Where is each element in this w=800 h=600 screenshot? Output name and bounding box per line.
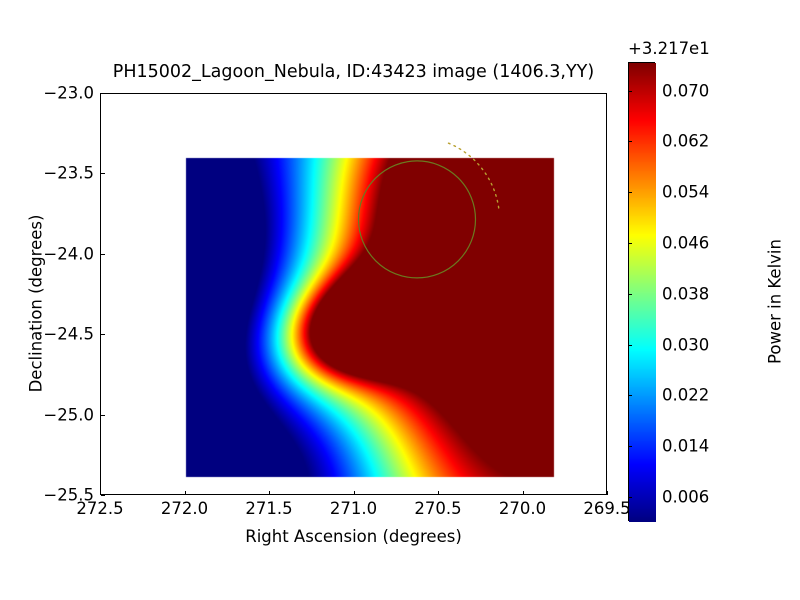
x-tick-label: 272.0 bbox=[161, 499, 208, 518]
heatmap-image bbox=[101, 94, 608, 496]
y-tick-label: −25.5 bbox=[43, 486, 94, 505]
colorbar-tick-mark bbox=[628, 446, 632, 447]
page-title: PH15002_Lagoon_Nebula, ID:43423 image (1… bbox=[100, 62, 607, 82]
colorbar-tick-label: 0.014 bbox=[662, 437, 709, 456]
colorbar-label: Power in Kelvin bbox=[766, 182, 785, 422]
x-tick-mark bbox=[523, 491, 524, 495]
colorbar-tick-mark bbox=[628, 497, 632, 498]
y-tick-label: −25.0 bbox=[43, 405, 94, 424]
colorbar-tick-label: 0.054 bbox=[662, 183, 709, 202]
y-tick-mark bbox=[101, 334, 105, 335]
colorbar-tick-label: 0.038 bbox=[662, 284, 709, 303]
x-tick-mark bbox=[185, 491, 186, 495]
colorbar-tick-label: 0.062 bbox=[662, 132, 709, 151]
y-tick-label: −24.0 bbox=[43, 244, 94, 263]
x-tick-label: 271.5 bbox=[245, 499, 292, 518]
sky-map-axes[interactable] bbox=[100, 93, 607, 495]
figure-canvas: PH15002_Lagoon_Nebula, ID:43423 image (1… bbox=[0, 0, 800, 600]
x-axis-label: Right Ascension (degrees) bbox=[100, 527, 607, 546]
y-tick-mark bbox=[101, 173, 105, 174]
colorbar-tick-mark bbox=[628, 294, 632, 295]
colorbar-tick-mark bbox=[628, 395, 632, 396]
x-tick-mark bbox=[607, 491, 608, 495]
colorbar-tick-label: 0.022 bbox=[662, 386, 709, 405]
x-tick-label: 269.5 bbox=[583, 499, 630, 518]
colorbar-tick-label: 0.046 bbox=[662, 233, 709, 252]
x-tick-label: 271.0 bbox=[330, 499, 377, 518]
y-axis-label: Declination (degrees) bbox=[27, 194, 46, 414]
x-tick-mark bbox=[438, 491, 439, 495]
y-tick-mark bbox=[101, 415, 105, 416]
colorbar-tick-label: 0.006 bbox=[662, 487, 709, 506]
colorbar-tick-mark bbox=[628, 141, 632, 142]
x-tick-mark bbox=[354, 491, 355, 495]
y-tick-label: −23.0 bbox=[43, 84, 94, 103]
y-tick-mark bbox=[101, 254, 105, 255]
colorbar[interactable] bbox=[628, 62, 655, 521]
colorbar-gradient bbox=[629, 63, 656, 522]
y-tick-label: −23.5 bbox=[43, 164, 94, 183]
colorbar-offset-text: +3.217e1 bbox=[628, 39, 710, 58]
colorbar-tick-label: 0.070 bbox=[662, 81, 709, 100]
colorbar-tick-mark bbox=[628, 91, 632, 92]
y-tick-label: −24.5 bbox=[43, 325, 94, 344]
colorbar-tick-mark bbox=[628, 243, 632, 244]
x-tick-label: 270.5 bbox=[414, 499, 461, 518]
x-tick-label: 270.0 bbox=[499, 499, 546, 518]
colorbar-tick-mark bbox=[628, 192, 632, 193]
colorbar-tick-mark bbox=[628, 345, 632, 346]
y-tick-mark bbox=[101, 495, 105, 496]
x-tick-mark bbox=[269, 491, 270, 495]
colorbar-tick-label: 0.030 bbox=[662, 335, 709, 354]
y-tick-mark bbox=[101, 93, 105, 94]
